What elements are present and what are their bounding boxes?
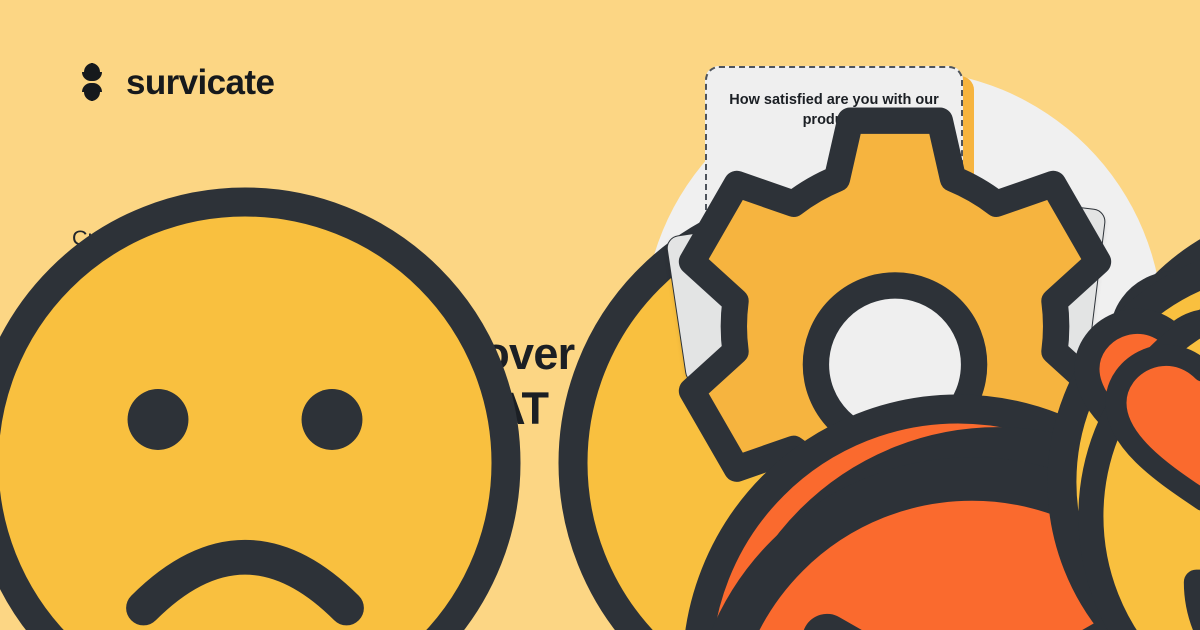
illustration: How satisfied are you with our product? — [620, 0, 1200, 630]
poster-canvas: survicate Customer satisfaction software… — [0, 0, 1200, 630]
survicate-pinwheel-logo-icon — [72, 62, 112, 102]
frowning-face-emoji[interactable] — [0, 148, 535, 630]
heart-eyes-face-emoji — [1025, 188, 1200, 630]
brand-logo[interactable]: survicate — [72, 62, 274, 102]
brand-name: survicate — [126, 65, 274, 100]
